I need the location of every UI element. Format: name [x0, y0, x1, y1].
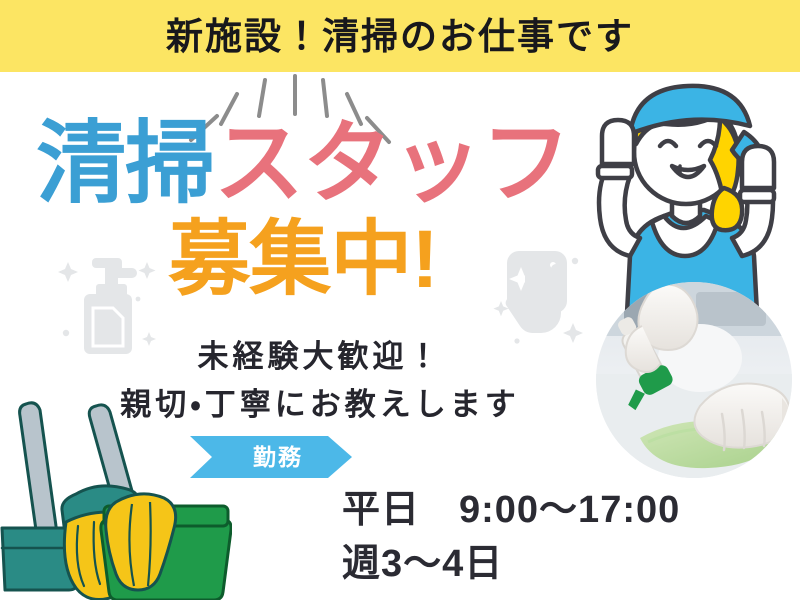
headline-staff: スタッフ [214, 114, 570, 214]
headline: 清掃スタッフ 募集中! [18, 118, 588, 301]
header-banner-text: 新施設！清掃のお仕事です [166, 18, 634, 55]
cleaning-photo-illustration [596, 282, 792, 478]
cleaning-photo [596, 282, 792, 478]
schedule-block: 平日 9:00〜17:00 週3〜4日 [342, 484, 680, 592]
work-schedule-badge-label: 勤務 [190, 436, 352, 478]
headline-line-2: 募集中! [18, 218, 588, 302]
subcopy: 未経験大歓迎！ 親切・丁寧にお教えします [60, 336, 580, 426]
headline-seisou: 清掃 [36, 114, 214, 214]
poster-root: 新施設！清掃のお仕事です [0, 0, 800, 600]
work-schedule-badge: 勤務 [190, 436, 352, 478]
cleaning-tools-illustration [0, 398, 232, 600]
subcopy-line-1: 未経験大歓迎！ [60, 336, 580, 378]
headline-line-1: 清掃スタッフ [18, 118, 588, 212]
schedule-hours: 平日 9:00〜17:00 [342, 484, 680, 538]
subcopy-line-2: 親切・丁寧にお教えします [60, 384, 580, 426]
header-banner: 新施設！清掃のお仕事です [0, 0, 800, 72]
schedule-days: 週3〜4日 [342, 538, 680, 592]
